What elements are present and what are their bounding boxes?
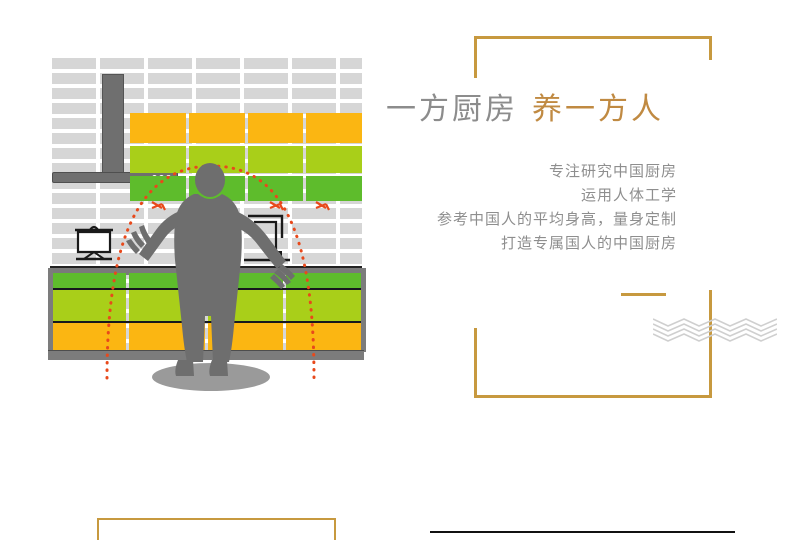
wave-ornament-icon xyxy=(653,313,777,343)
page-title-accent: 养一方人 xyxy=(532,93,664,126)
description-line: 参考中国人的平均身高，量身定制 xyxy=(365,208,677,232)
person-silhouette xyxy=(126,163,295,376)
description-line: 运用人体工学 xyxy=(365,184,677,208)
description-block: 专注研究中国厨房 运用人体工学 参考中国人的平均身高，量身定制 打造专属国人的中… xyxy=(365,160,677,256)
page-title-primary: 一方厨房 xyxy=(386,93,518,126)
description-line: 专注研究中国厨房 xyxy=(365,160,677,184)
description-line: 打造专属国人的中国厨房 xyxy=(365,232,677,256)
page-title: 一方厨房养一方人 xyxy=(386,84,716,128)
kitchen-ergonomics-illustration xyxy=(52,58,362,393)
page-canvas: 一方厨房养一方人 专注研究中国厨房 运用人体工学 参考中国人的平均身高，量身定制… xyxy=(0,0,790,537)
human-figure-and-reach-arc xyxy=(52,58,362,393)
bottom-right-rule xyxy=(430,531,735,533)
gold-accent-dash xyxy=(621,293,666,296)
